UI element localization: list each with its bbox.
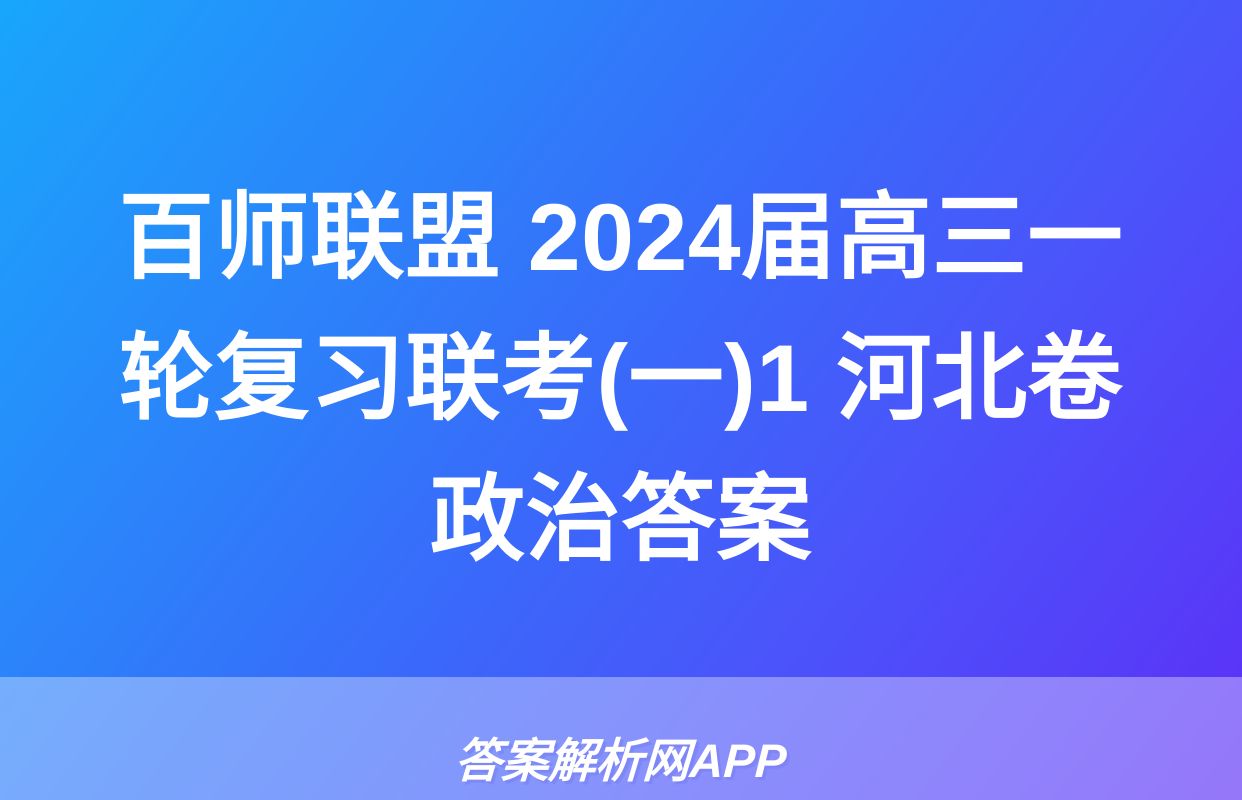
page-title-line-3: 政治答案 [58,450,1184,591]
poster-title-block: 百师联盟 2024届高三一 轮复习联考(一)1 河北卷 政治答案 [0,168,1242,591]
footer-watermark-band: 答案解析网APP [0,677,1242,800]
page-title-line-1: 百师联盟 2024届高三一 [58,168,1184,309]
answer-poster-card: 百师联盟 2024届高三一 轮复习联考(一)1 河北卷 政治答案 答案解析网AP… [0,0,1242,800]
app-watermark-label: 答案解析网APP [453,722,788,791]
page-title-line-2: 轮复习联考(一)1 河北卷 [58,309,1184,450]
